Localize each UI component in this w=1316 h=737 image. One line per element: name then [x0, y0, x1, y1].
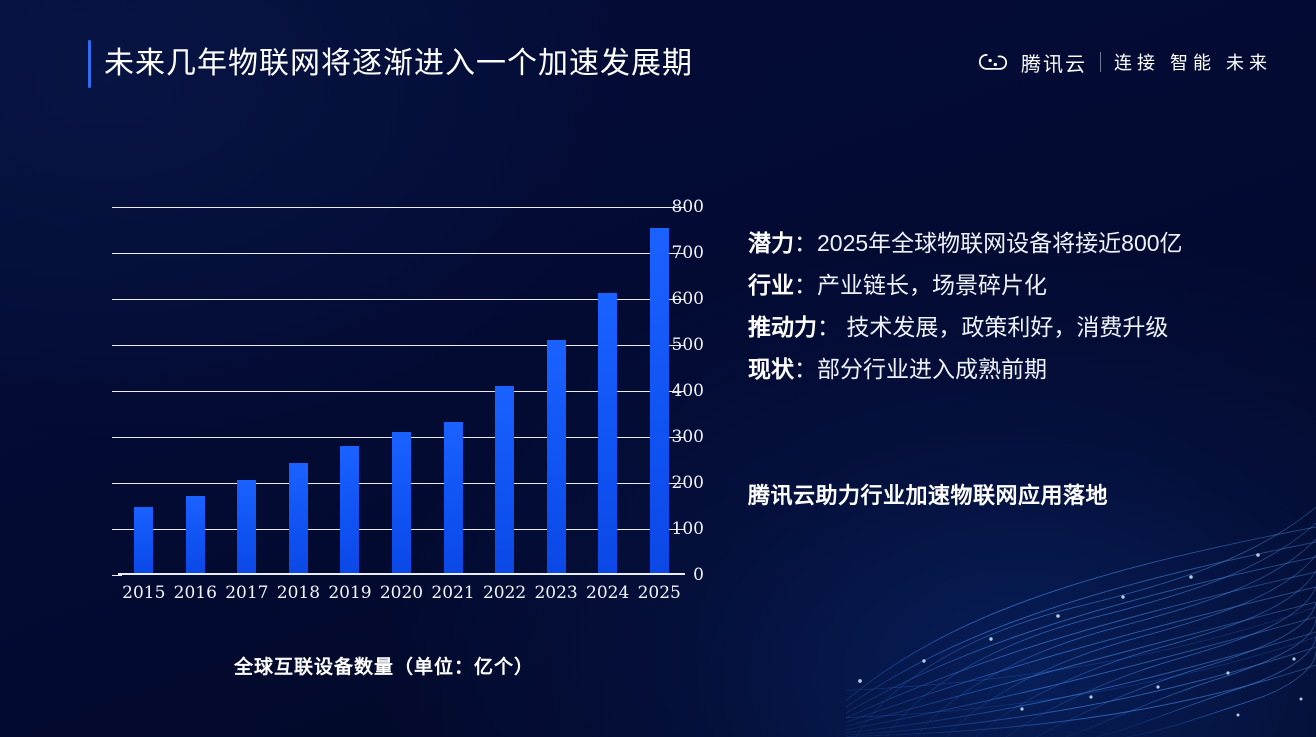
key-point-2: 行业：产业链长，场景碎片化 — [748, 264, 1288, 306]
x-axis-tick-label: 2015 — [117, 583, 171, 603]
y-axis-tick-mark — [112, 207, 122, 208]
y-axis-tick-label: 600 — [658, 289, 704, 309]
key-point-separator: ： — [794, 230, 817, 256]
key-point-text: 产业链长，场景碎片化 — [817, 272, 1047, 298]
bars-group — [118, 207, 685, 575]
x-axis-tick-label: 2019 — [323, 583, 377, 603]
y-axis-tick-label: 0 — [658, 565, 704, 585]
y-axis-tick-mark — [112, 437, 122, 438]
y-axis-tick-label: 800 — [658, 197, 704, 217]
key-point-label: 推动力 — [748, 314, 817, 340]
y-axis-tick-mark — [112, 529, 122, 530]
key-point-text: 技术发展，政策利好，消费升级 — [840, 314, 1168, 340]
key-point-text: 部分行业进入成熟前期 — [817, 356, 1047, 382]
x-axis-tick-label: 2017 — [220, 583, 274, 603]
bar — [444, 422, 463, 575]
logo-slogan: 连接 智能 未来 — [1114, 49, 1272, 75]
x-axis-tick-label: 2016 — [168, 583, 222, 603]
y-axis-tick-label: 200 — [658, 473, 704, 493]
x-axis-line — [118, 573, 685, 575]
key-point-label: 现状 — [748, 356, 794, 382]
key-point-1: 潜力：2025年全球物联网设备将接近800亿 — [748, 222, 1288, 264]
bar — [598, 293, 617, 575]
chart-caption: 全球互联设备数量（单位：亿个） — [64, 652, 704, 679]
y-axis-tick-mark — [112, 391, 122, 392]
logo-brand-name: 腾讯云 — [1021, 48, 1087, 77]
bar — [237, 480, 256, 575]
bar — [340, 446, 359, 575]
wave-mesh-graphic — [846, 487, 1316, 737]
bar — [547, 340, 566, 575]
y-axis-tick-mark — [112, 575, 122, 576]
x-axis-tick-label: 2025 — [632, 583, 686, 603]
tencent-cloud-logo-icon — [978, 47, 1008, 77]
y-axis-tick-mark — [112, 253, 122, 254]
y-axis-tick-label: 300 — [658, 427, 704, 447]
x-axis-labels: 2015201620172018201920202021202220232024… — [118, 583, 685, 609]
bar — [392, 432, 411, 575]
key-point-text: 2025年全球物联网设备将接近800亿 — [817, 230, 1183, 256]
title-accent-bar — [88, 40, 91, 88]
y-axis-tick-mark — [112, 299, 122, 300]
bar-chart: 2015201620172018201920202021202220232024… — [64, 186, 704, 606]
key-point-3: 推动力： 技术发展，政策利好，消费升级 — [748, 306, 1288, 348]
bar — [289, 463, 308, 575]
y-axis-tick-label: 100 — [658, 519, 704, 539]
y-axis-tick-label: 700 — [658, 243, 704, 263]
x-axis-tick-label: 2021 — [426, 583, 480, 603]
logo-divider — [1100, 52, 1101, 72]
y-axis-ticks — [64, 207, 112, 575]
x-axis-tick-label: 2024 — [581, 583, 635, 603]
slide-canvas: 未来几年物联网将逐渐进入一个加速发展期 腾讯云 连接 智能 未来 2015201… — [0, 0, 1316, 737]
key-point-4: 现状：部分行业进入成熟前期 — [748, 348, 1288, 390]
x-axis-tick-label: 2022 — [478, 583, 532, 603]
bar — [186, 496, 205, 575]
y-axis-tick-mark — [112, 483, 122, 484]
bar — [134, 507, 153, 575]
y-axis-tick-label: 400 — [658, 381, 704, 401]
key-points-list: 潜力：2025年全球物联网设备将接近800亿行业：产业链长，场景碎片化推动力： … — [748, 222, 1288, 390]
y-axis-tick-mark — [112, 345, 122, 346]
page-title: 未来几年物联网将逐渐进入一个加速发展期 — [104, 42, 693, 86]
tagline: 腾讯云助力行业加速物联网应用落地 — [748, 478, 1108, 510]
key-point-separator: ： — [794, 356, 817, 382]
key-point-label: 行业 — [748, 272, 794, 298]
y-axis-tick-label: 500 — [658, 335, 704, 355]
x-axis-tick-label: 2023 — [529, 583, 583, 603]
key-point-separator: ： — [817, 314, 840, 340]
key-point-label: 潜力 — [748, 230, 794, 256]
plot-area — [118, 207, 685, 575]
brand-logo: 腾讯云 连接 智能 未来 — [978, 47, 1272, 77]
key-point-separator: ： — [794, 272, 817, 298]
x-axis-tick-label: 2018 — [271, 583, 325, 603]
bar — [495, 386, 514, 575]
x-axis-tick-label: 2020 — [375, 583, 429, 603]
